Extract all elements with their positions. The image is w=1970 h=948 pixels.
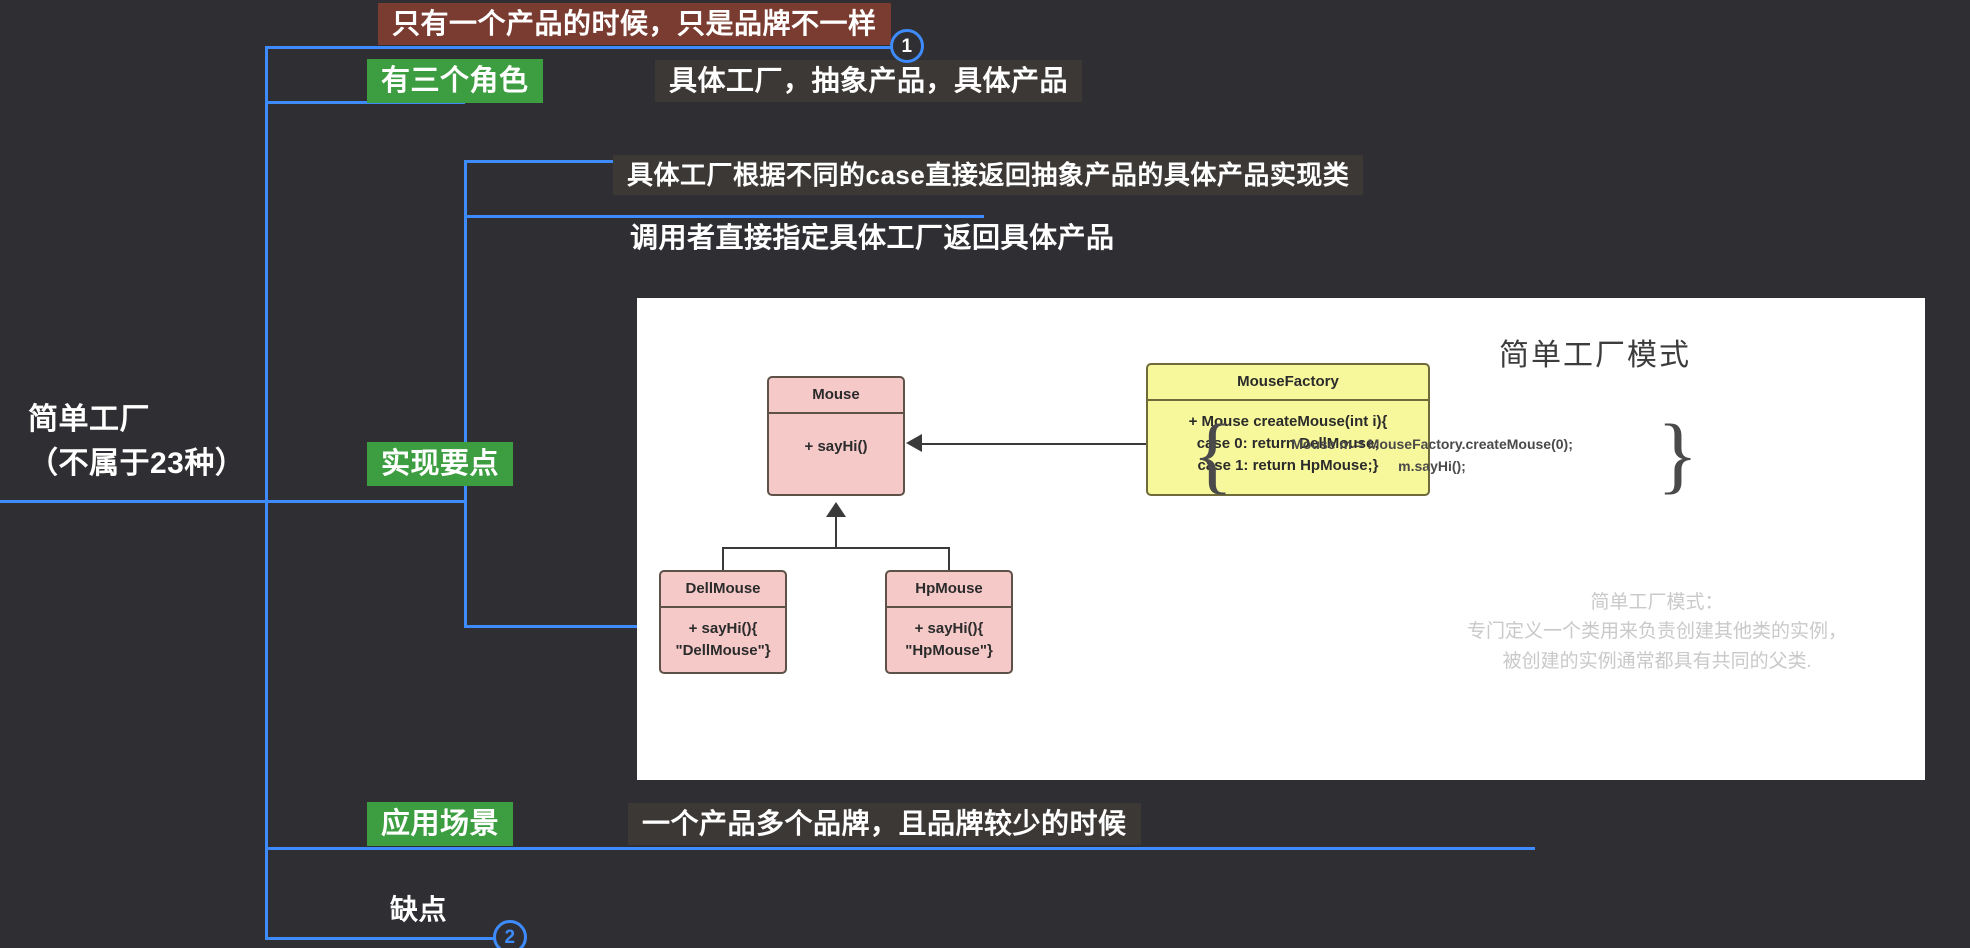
uml-class-hpmouse-members: + sayHi(){ "HpMouse"} <box>887 608 1011 672</box>
uml-inherit-right-drop <box>948 547 950 572</box>
node-use-case-detail[interactable]: 一个产品多个品牌，且品牌较少的时候 <box>628 803 1141 845</box>
uml-class-mouse-name: Mouse <box>769 378 903 414</box>
node-impl-points[interactable]: 实现要点 <box>367 442 513 486</box>
brace-right-glyph: } <box>1657 416 1698 493</box>
root-underline <box>0 500 268 503</box>
uml-inherit-stem <box>835 517 837 549</box>
node-drawback[interactable]: 缺点 <box>388 890 449 930</box>
uml-class-hpmouse: HpMouse + sayHi(){ "HpMouse"} <box>885 570 1013 674</box>
connector-impl-bottom <box>464 625 639 628</box>
uml-class-dellmouse: DellMouse + sayHi(){ "DellMouse"} <box>659 570 787 674</box>
mindmap-canvas: 简单工厂 （不属于23种） 只有一个产品的时候，只是品牌不一样 有三个角色 具体… <box>0 0 1970 948</box>
uml-code-snippet: Mouse m = MouseFactory.createMouse(0); m… <box>1217 433 1647 478</box>
uml-class-dellmouse-members: + sayHi(){ "DellMouse"} <box>661 608 785 672</box>
uml-inherit-bar <box>722 547 950 549</box>
connector-drawback-underline <box>265 937 495 940</box>
uml-class-mousefactory-name: MouseFactory <box>1148 365 1428 401</box>
root-node[interactable]: 简单工厂 （不属于23种） <box>28 398 245 485</box>
connector-scene-underline <box>265 847 1535 850</box>
node-three-roles[interactable]: 有三个角色 <box>367 59 543 103</box>
uml-inherit-left-drop <box>722 547 724 572</box>
uml-class-dellmouse-name: DellMouse <box>661 572 785 608</box>
uml-association-line <box>922 443 1146 445</box>
node-use-case[interactable]: 应用场景 <box>367 802 513 846</box>
node-role-list[interactable]: 具体工厂，抽象产品，具体产品 <box>655 60 1082 102</box>
badge-1[interactable]: 1 <box>890 29 924 63</box>
badge-2[interactable]: 2 <box>493 920 527 948</box>
node-impl-case[interactable]: 具体工厂根据不同的case直接返回抽象产品的具体产品实现类 <box>613 155 1363 195</box>
uml-class-mouse-members: + sayHi() <box>769 414 903 468</box>
uml-arrowhead-icon <box>906 434 922 452</box>
badge-1-label: 1 <box>901 37 912 56</box>
uml-diagram-image[interactable]: 简单工厂模式 Mouse + sayHi() MouseFactory + Mo… <box>637 298 1925 780</box>
uml-class-mouse: Mouse + sayHi() <box>767 376 905 496</box>
uml-note-text: 简单工厂模式： 专门定义一个类用来负责创建其他类的实例， 被创建的实例通常都具有… <box>1407 588 1907 676</box>
uml-class-hpmouse-name: HpMouse <box>887 572 1011 608</box>
connector-to-badge-1 <box>780 46 892 49</box>
uml-title: 简单工厂模式 <box>1499 330 1691 374</box>
connector-impl-label <box>265 500 465 503</box>
spine-impl <box>464 160 467 626</box>
node-caller-specifies[interactable]: 调用者直接指定具体工厂返回具体产品 <box>628 218 1117 258</box>
uml-inheritance-triangle-icon <box>826 502 846 517</box>
node-single-product[interactable]: 只有一个产品的时候，只是品牌不一样 <box>378 3 891 45</box>
spine-main <box>265 46 268 940</box>
badge-2-label: 2 <box>504 928 515 947</box>
